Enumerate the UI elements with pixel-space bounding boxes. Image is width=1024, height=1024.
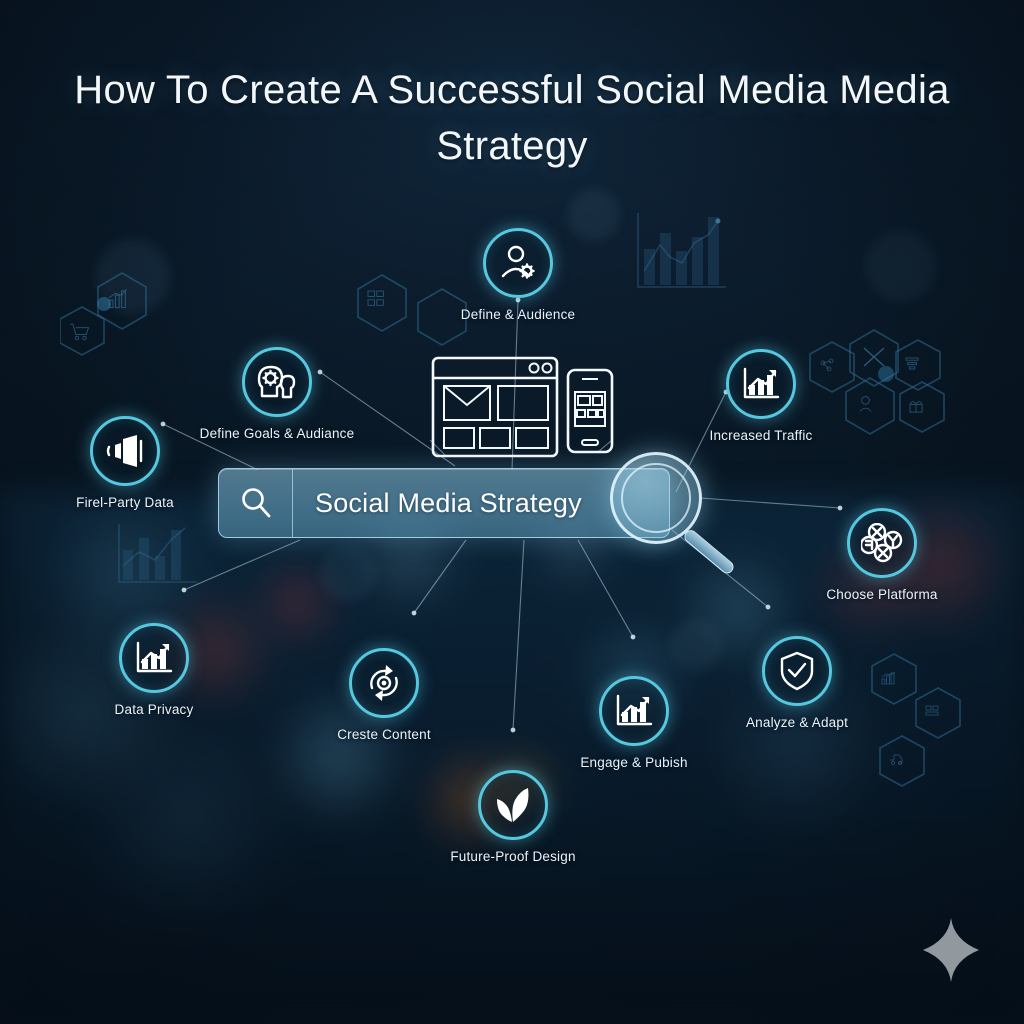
browser-window-wireframe-icon [433, 358, 557, 456]
search-input[interactable]: Social Media Strategy [293, 488, 669, 519]
node-label: Analyze & Adapt [712, 715, 882, 730]
node-label: Future-Proof Design [428, 849, 598, 864]
infographic-canvas: How To Create A Successful Social Media … [0, 0, 1024, 1024]
node-future-proof-design[interactable]: Future-Proof Design [428, 770, 598, 864]
node-label: Define & Audience [433, 307, 603, 322]
head-gear-icon [242, 347, 312, 417]
node-choose-platforms[interactable]: Choose Platforma [797, 508, 967, 602]
node-label: Data Privacy [69, 702, 239, 717]
user-gear-icon [483, 228, 553, 298]
megaphone-icon [90, 416, 160, 486]
center-devices [430, 352, 620, 467]
node-label: Engage & Pubish [549, 755, 719, 770]
node-increased-traffic[interactable]: Increased Traffic [676, 349, 846, 443]
node-first-party-data[interactable]: Firel-Party Data [40, 416, 210, 510]
node-label: Choose Platforma [797, 587, 967, 602]
node-data-privacy[interactable]: Data Privacy [69, 623, 239, 717]
shield-check-icon [762, 636, 832, 706]
leaf-icon [478, 770, 548, 840]
growth-chart-icon [599, 676, 669, 746]
node-label: Firel-Party Data [40, 495, 210, 510]
refresh-cycle-icon [349, 648, 419, 718]
growth-chart-icon [726, 349, 796, 419]
sparkle-icon [923, 918, 979, 982]
node-label: Increased Traffic [676, 428, 846, 443]
search-icon[interactable] [219, 469, 293, 537]
node-analyze-adapt[interactable]: Analyze & Adapt [712, 636, 882, 730]
social-platforms-icon [847, 508, 917, 578]
node-label: Creste Content [299, 727, 469, 742]
search-bar[interactable]: Social Media Strategy [218, 468, 670, 538]
node-create-content[interactable]: Creste Content [299, 648, 469, 742]
node-engage-publish[interactable]: Engage & Pubish [549, 676, 719, 770]
node-define-goals[interactable]: Define Goals & Audiance [192, 347, 362, 441]
growth-chart-icon [119, 623, 189, 693]
node-label: Define Goals & Audiance [192, 426, 362, 441]
node-define-audience[interactable]: Define & Audience [433, 228, 603, 322]
smartphone-wireframe-icon [568, 370, 612, 452]
